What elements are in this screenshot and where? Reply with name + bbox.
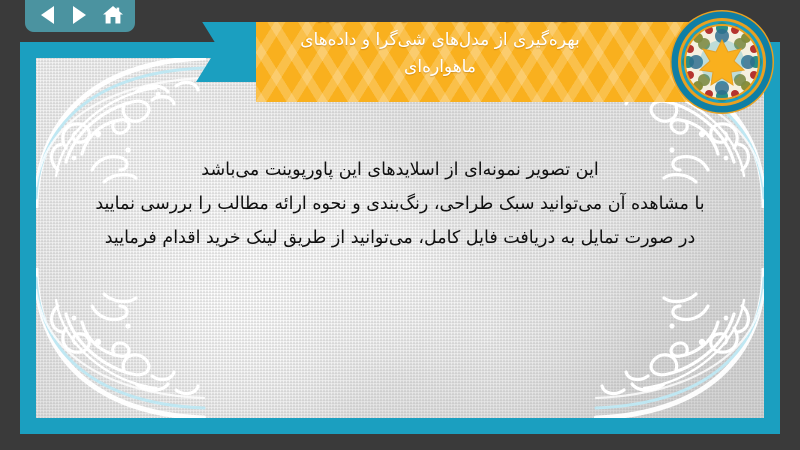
title-line-2: بهره‌گیری از مدل‌های شی‌گرا و داده‌های xyxy=(210,27,670,54)
body-line-1: این تصویر نمونه‌ای از اسلایدهای این پاور… xyxy=(66,153,734,187)
persian-medallion-ornament-icon xyxy=(668,8,776,116)
previous-slide-button[interactable] xyxy=(34,3,60,27)
title-line-3: ماهواره‌ای xyxy=(210,54,670,81)
banner-top-mask xyxy=(190,0,750,22)
arabesque-corner-bottom-left-icon xyxy=(36,268,206,418)
next-slide-button[interactable] xyxy=(67,3,93,27)
slide-content-panel: این تصویر نمونه‌ای از اسلایدهای این پاور… xyxy=(36,58,764,418)
home-icon xyxy=(102,5,124,25)
body-line-3: در صورت تمایل به دریافت فایل کامل، می‌تو… xyxy=(66,221,734,255)
slide-body-text: این تصویر نمونه‌ای از اسلایدهای این پاور… xyxy=(66,153,734,255)
arabesque-corner-bottom-right-icon xyxy=(594,268,764,418)
navigation-toolbar[interactable] xyxy=(25,0,135,32)
triangle-right-icon xyxy=(73,6,86,24)
triangle-left-icon xyxy=(41,6,54,24)
body-line-2: با مشاهده آن می‌توانید سبک طراحی، رنگ‌بن… xyxy=(66,187,734,221)
home-button[interactable] xyxy=(100,3,126,27)
slide-viewer: این تصویر نمونه‌ای از اسلایدهای این پاور… xyxy=(0,0,800,450)
